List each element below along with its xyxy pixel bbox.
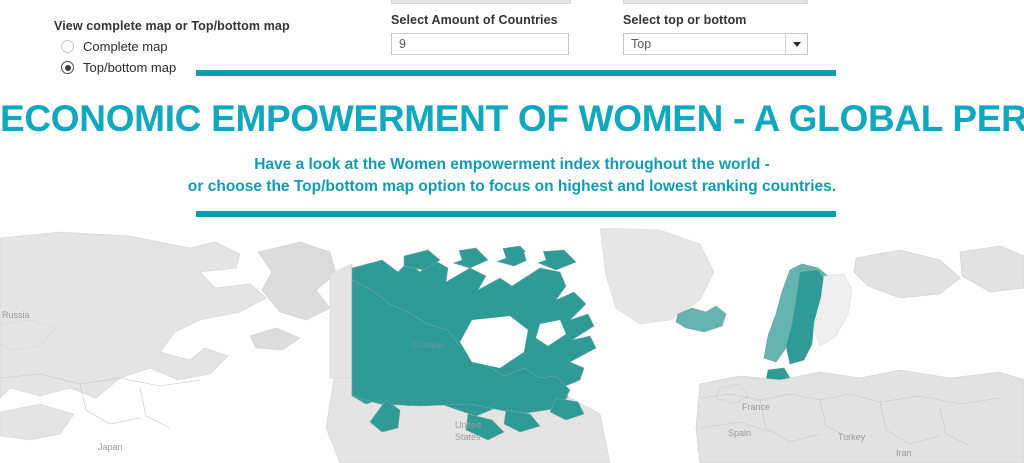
radio-option-complete-map[interactable]: Complete map [61,39,290,54]
amount-group: Select Amount of Countries 9 [391,13,569,55]
top-bottom-dropdown[interactable]: Top [623,33,808,55]
svg-text:United: United [455,420,481,430]
view-mode-group: View complete map or Top/bottom map Comp… [54,19,290,75]
svg-text:Iran: Iran [896,448,912,458]
radio-icon-top-bottom-map[interactable] [61,61,74,74]
radio-label-complete-map: Complete map [83,39,168,54]
control-panel: View complete map or Top/bottom map Comp… [0,0,1024,90]
svg-text:Spain: Spain [728,428,751,438]
svg-text:Canada: Canada [412,340,444,350]
amount-input[interactable]: 9 [391,33,569,55]
divider-top [196,70,836,76]
view-mode-label: View complete map or Top/bottom map [54,19,290,33]
page-subtitle: Have a look at the Women empowerment ind… [0,154,1024,198]
amount-label: Select Amount of Countries [391,13,569,27]
world-map[interactable]: Russia Japan Canada United States France… [0,228,1024,463]
svg-text:France: France [742,402,770,412]
page-title: ECONOMIC EMPOWERMENT OF WOMEN - A GLOBAL… [0,96,1024,142]
svg-text:Russia: Russia [2,310,30,320]
radio-icon-complete-map[interactable] [61,40,74,53]
top-bottom-selected-value: Top [624,34,785,54]
subtitle-line-2: or choose the Top/bottom map option to f… [0,176,1024,198]
svg-text:States: States [455,432,481,442]
svg-text:Turkey: Turkey [838,432,866,442]
top-bottom-label: Select top or bottom [623,13,808,27]
divider-bottom [196,211,836,217]
subtitle-line-1: Have a look at the Women empowerment ind… [0,154,1024,176]
top-bottom-group: Select top or bottom Top [623,13,808,55]
radio-label-top-bottom-map: Top/bottom map [83,60,176,75]
chevron-down-icon[interactable] [785,34,807,54]
svg-text:Japan: Japan [98,442,123,452]
